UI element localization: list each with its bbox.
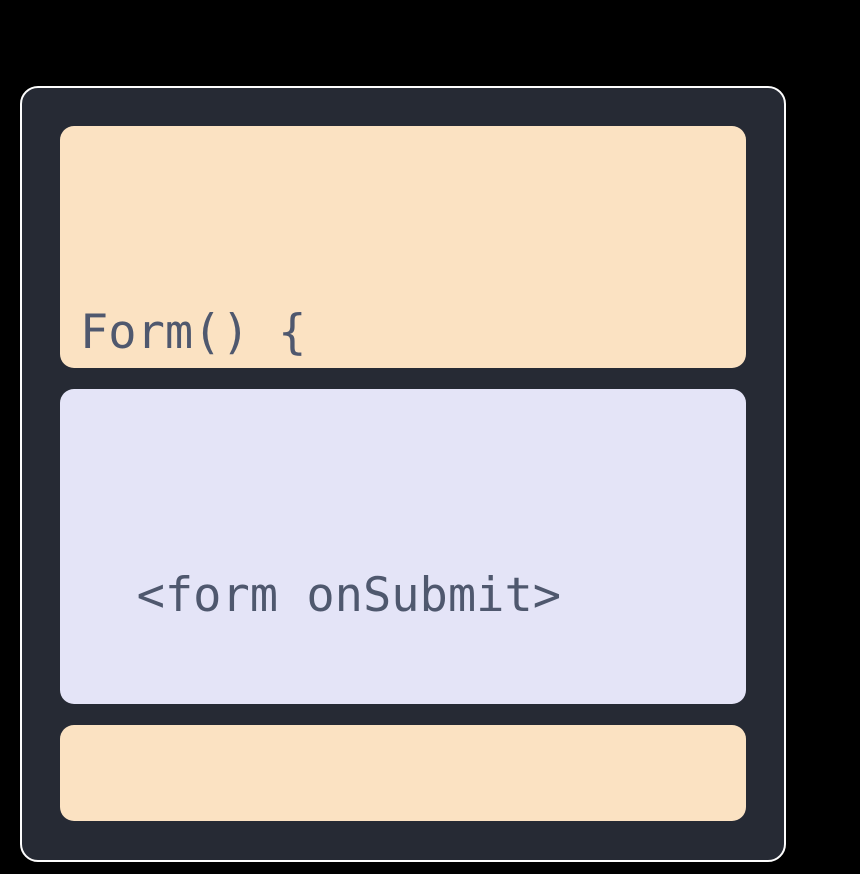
code-block-markup: <form onSubmit> <input onClick /> <input… <box>60 389 746 704</box>
code-block-component-tail: } <box>60 725 746 821</box>
code-block-component-head: Form() { onClick() {...} onSubmit() {...… <box>60 126 746 368</box>
code-line: Form() { <box>80 296 726 368</box>
code-card: Form() { onClick() {...} onSubmit() {...… <box>20 86 786 862</box>
code-line: <form onSubmit> <box>80 559 726 633</box>
screenshot-stage: Form() { onClick() {...} onSubmit() {...… <box>0 0 860 874</box>
